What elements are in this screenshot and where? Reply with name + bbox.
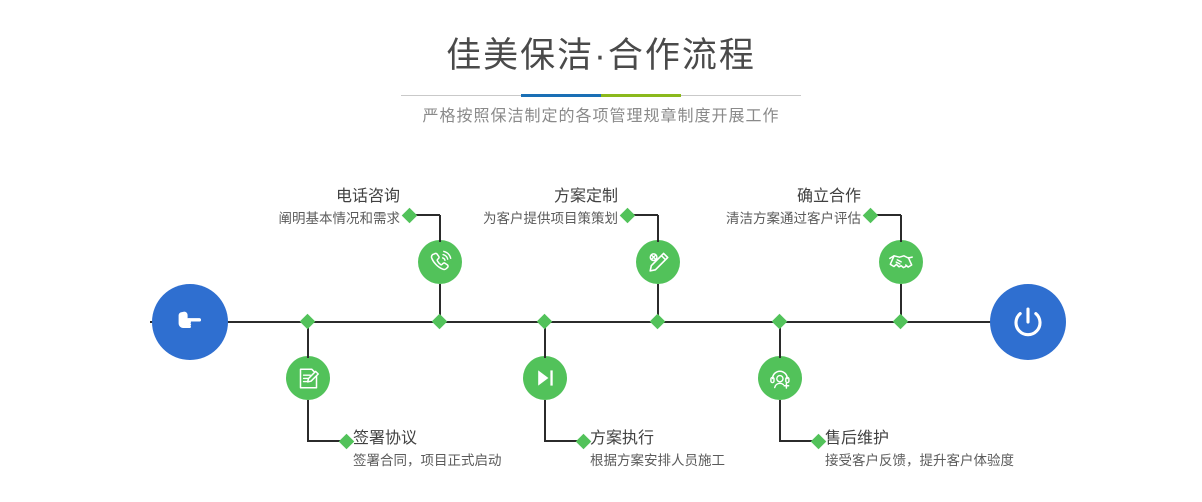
step-node-5[interactable] [879, 240, 923, 284]
pointing-hand-icon [170, 302, 210, 342]
page-subtitle: 严格按照保洁制定的各项管理规章制度开展工作 [0, 105, 1202, 129]
step-title-3: 方案定制 [410, 186, 618, 208]
step-title-4: 方案执行 [590, 428, 820, 450]
pencil-design-icon [646, 250, 671, 275]
step-node-4[interactable] [523, 356, 567, 400]
play-to-end-icon [533, 366, 557, 390]
diamond-marker-axis-4 [537, 314, 553, 330]
step-desc-5: 清洁方案通过客户评估 [648, 209, 861, 229]
step-node-1[interactable] [418, 240, 462, 284]
step-desc-3: 为客户提供项目策策划 [410, 209, 618, 229]
flow-diagram-page: 佳美保洁·合作流程 严格按照保洁制定的各项管理规章制度开展工作 [0, 0, 1202, 502]
step-node-2[interactable] [286, 356, 330, 400]
step-desc-1: 阐明基本情况和需求 [194, 209, 400, 229]
step-title-2: 签署协议 [353, 428, 583, 450]
timeline-axis [150, 321, 1052, 323]
step-node-6[interactable] [758, 356, 802, 400]
divider-segment-blue [521, 94, 601, 97]
step-label-5: 确立合作 清洁方案通过客户评估 [648, 186, 861, 229]
header: 佳美保洁·合作流程 [0, 34, 1202, 78]
diamond-marker-label-2 [339, 433, 355, 449]
phone-call-icon [427, 249, 453, 275]
step-label-2: 签署协议 签署合同，项目正式启动 [353, 428, 583, 471]
diamond-marker-axis-2 [300, 314, 316, 330]
step-desc-2: 签署合同，项目正式启动 [353, 451, 583, 471]
diamond-marker-axis-5 [893, 314, 909, 330]
timeline-end-node[interactable] [990, 284, 1066, 360]
step-title-1: 电话咨询 [194, 186, 400, 208]
connector-2-vertical-down [307, 400, 309, 441]
step-label-6: 售后维护 接受客户反馈，提升客户体验度 [825, 428, 1085, 471]
step-node-3[interactable] [636, 240, 680, 284]
step-label-1: 电话咨询 阐明基本情况和需求 [194, 186, 400, 229]
diamond-marker-axis-1 [432, 314, 448, 330]
diamond-marker-axis-3 [650, 314, 666, 330]
step-title-6: 售后维护 [825, 428, 1085, 450]
connector-4-vertical-down [544, 400, 546, 441]
step-label-3: 方案定制 为客户提供项目策策划 [410, 186, 618, 229]
document-edit-icon [296, 366, 321, 391]
diamond-marker-label-3 [620, 207, 636, 223]
divider-segment-green [601, 94, 681, 97]
power-icon [1007, 301, 1049, 343]
page-title: 佳美保洁·合作流程 [0, 34, 1202, 78]
timeline-start-node[interactable] [152, 284, 228, 360]
diamond-marker-axis-6 [772, 314, 788, 330]
connector-5-vertical-down [900, 215, 902, 242]
diamond-marker-label-5 [863, 207, 879, 223]
step-desc-4: 根据方案安排人员施工 [590, 451, 820, 471]
step-label-4: 方案执行 根据方案安排人员施工 [590, 428, 820, 471]
step-desc-6: 接受客户反馈，提升客户体验度 [825, 451, 1085, 471]
support-agent-icon [768, 366, 793, 391]
title-divider [401, 94, 801, 97]
connector-6-vertical-down [779, 400, 781, 441]
step-title-5: 确立合作 [648, 186, 861, 208]
connector-5-horizontal [875, 214, 901, 216]
handshake-icon [888, 249, 914, 275]
